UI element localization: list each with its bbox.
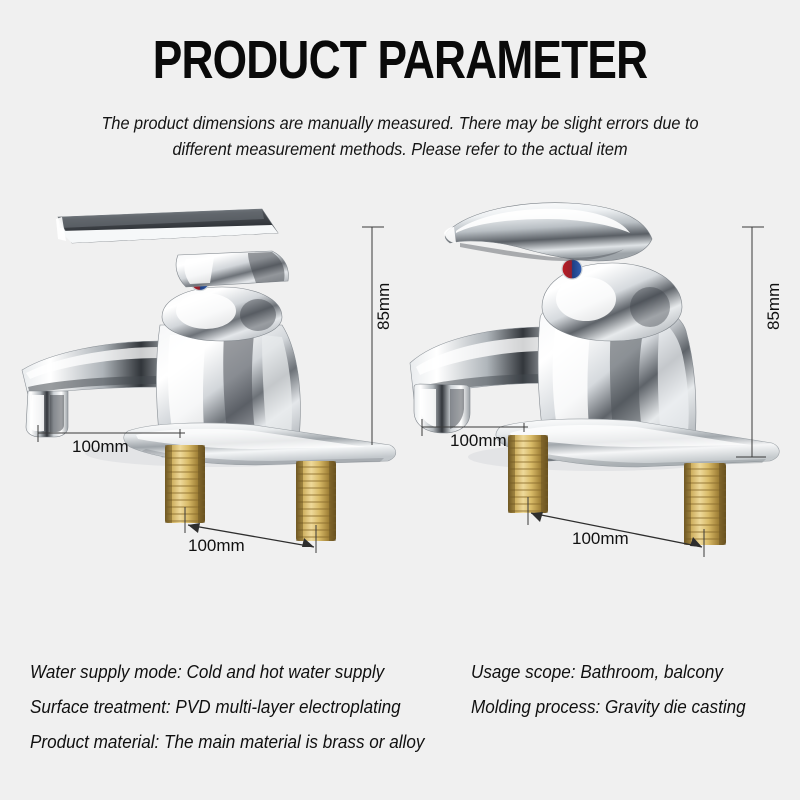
- spec-usage-scope: Usage scope: Bathroom, balcony: [471, 655, 746, 690]
- page-subtitle: The product dimensions are manually meas…: [75, 110, 726, 162]
- product-image-faucet-left: [10, 195, 410, 585]
- subtitle-line-1: The product dimensions are manually meas…: [75, 110, 726, 136]
- dimension-label-spacing-left: 100mm: [188, 536, 245, 556]
- spec-water-supply-mode: Water supply mode: Cold and hot water su…: [30, 655, 424, 690]
- page-title: PRODUCT PARAMETER: [72, 30, 728, 90]
- specifications-section: Water supply mode: Cold and hot water su…: [0, 655, 800, 775]
- dimension-label-height-left: 85mm: [374, 283, 394, 330]
- subtitle-line-2: different measurement methods. Please re…: [75, 136, 726, 162]
- specs-column-left: Water supply mode: Cold and hot water su…: [30, 655, 445, 760]
- spec-surface-treatment: Surface treatment: PVD multi-layer elect…: [30, 690, 424, 725]
- dimension-label-height-right: 85mm: [764, 283, 784, 330]
- dimension-label-reach-right: 100mm: [450, 431, 507, 451]
- spec-molding-process: Molding process: Gravity die casting: [471, 690, 746, 725]
- product-image-faucet-right: [400, 195, 800, 585]
- specs-column-right: Usage scope: Bathroom, balcony Molding p…: [471, 655, 760, 725]
- faucet-shank-right: [684, 463, 726, 545]
- product-parameter-page: PRODUCT PARAMETER The product dimensions…: [0, 0, 800, 800]
- spec-product-material: Product material: The main material is b…: [30, 725, 424, 760]
- dimension-label-spacing-right: 100mm: [572, 529, 629, 549]
- dimension-label-reach-left: 100mm: [72, 437, 129, 457]
